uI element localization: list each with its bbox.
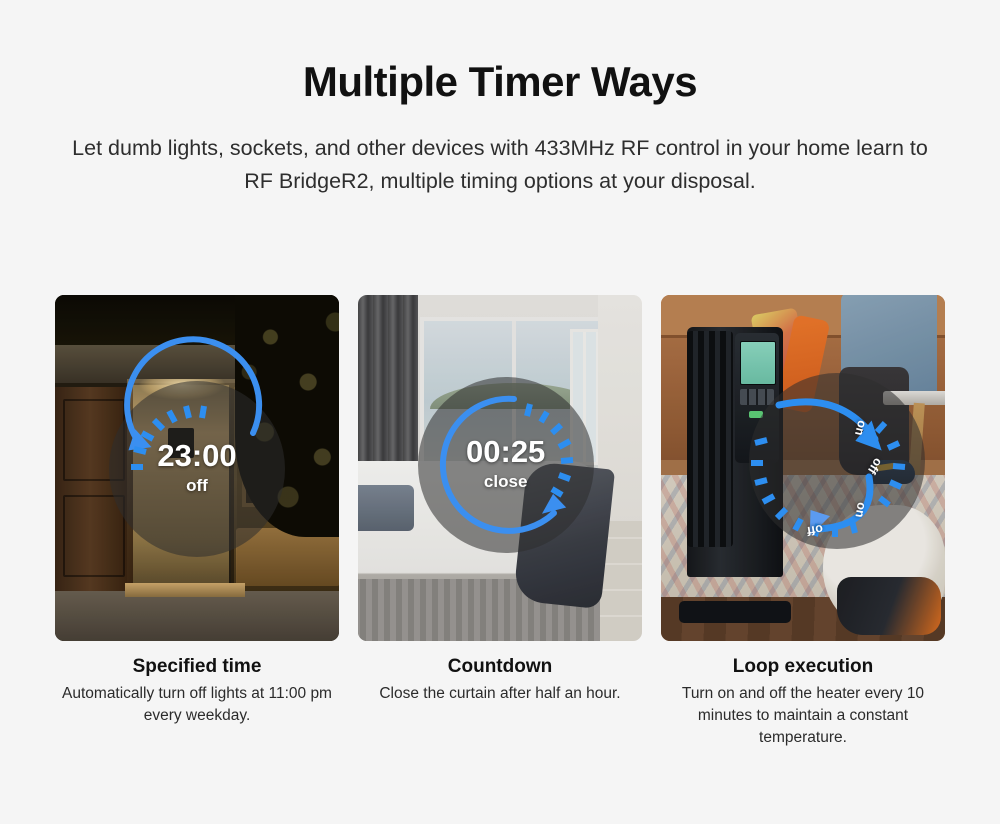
dial-state-value: close [418,472,594,492]
dial-time-value: 23:00 [109,438,285,474]
caption-description: Automatically turn off lights at 11:00 p… [55,683,339,727]
dial-state-value: off [109,476,285,496]
page-title: Multiple Timer Ways [0,58,1000,106]
card-caption: Countdown Close the curtain after half a… [358,655,642,705]
caption-description: Turn on and off the heater every 10 minu… [661,683,945,749]
timer-dial-specified-time: 23:00 off [109,381,285,557]
dial-graphics [749,373,925,549]
page-root: Multiple Timer Ways Let dumb lights, soc… [0,0,1000,824]
feature-card-countdown: 00:25 close Countdown Close the curtain … [358,295,642,749]
dial-ticks [751,423,905,537]
card-photo-night-house: 23:00 off [55,295,339,641]
feature-card-loop-execution: on off on off Loop execution Turn on and… [661,295,945,749]
loop-label-off-2: off [806,522,824,538]
card-caption: Specified time Automatically turn off li… [55,655,339,727]
loop-label-on-2: on [852,501,868,518]
card-photo-living-room: on off on off [661,295,945,641]
feature-card-row: 23:00 off Specified time Automatically t… [0,295,1000,749]
timer-dial-loop-execution: on off on off [749,373,925,549]
card-photo-bedroom: 00:25 close [358,295,642,641]
page-subtitle: Let dumb lights, sockets, and other devi… [60,132,940,197]
card-caption: Loop execution Turn on and off the heate… [661,655,945,749]
caption-title: Loop execution [661,655,945,680]
caption-title: Countdown [358,655,642,680]
header: Multiple Timer Ways Let dumb lights, soc… [0,0,1000,198]
timer-dial-countdown: 00:25 close [418,377,594,553]
dial-time-value: 00:25 [418,434,594,470]
caption-title: Specified time [55,655,339,680]
feature-card-specified-time: 23:00 off Specified time Automatically t… [55,295,339,749]
caption-description: Close the curtain after half an hour. [358,683,642,705]
